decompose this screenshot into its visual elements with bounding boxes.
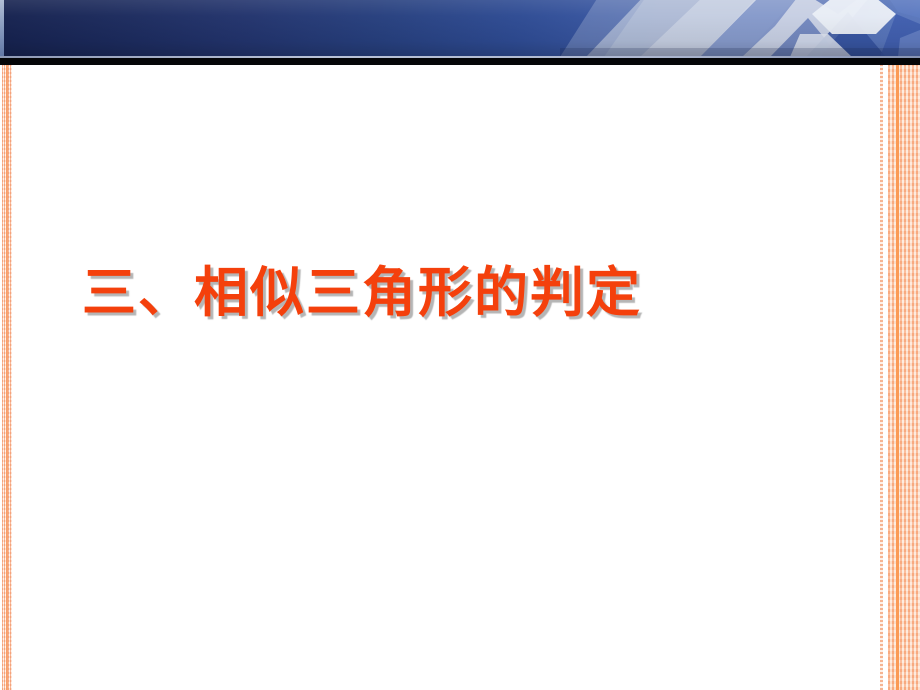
right-decorative-band <box>888 65 920 690</box>
page-title: 三、相似三角形的判定 <box>82 262 782 324</box>
header-sheen <box>0 0 920 57</box>
right-thin-stripe <box>880 65 883 690</box>
slide-canvas: 三、相似三角形的判定 <box>0 0 920 690</box>
header-banner <box>0 0 920 57</box>
header-black-band <box>0 58 920 65</box>
header-left-edge <box>0 0 4 57</box>
left-stripe-accent-line <box>6 65 8 690</box>
right-stripe-accent-line <box>896 65 899 690</box>
title-block: 三、相似三角形的判定 <box>82 262 782 324</box>
